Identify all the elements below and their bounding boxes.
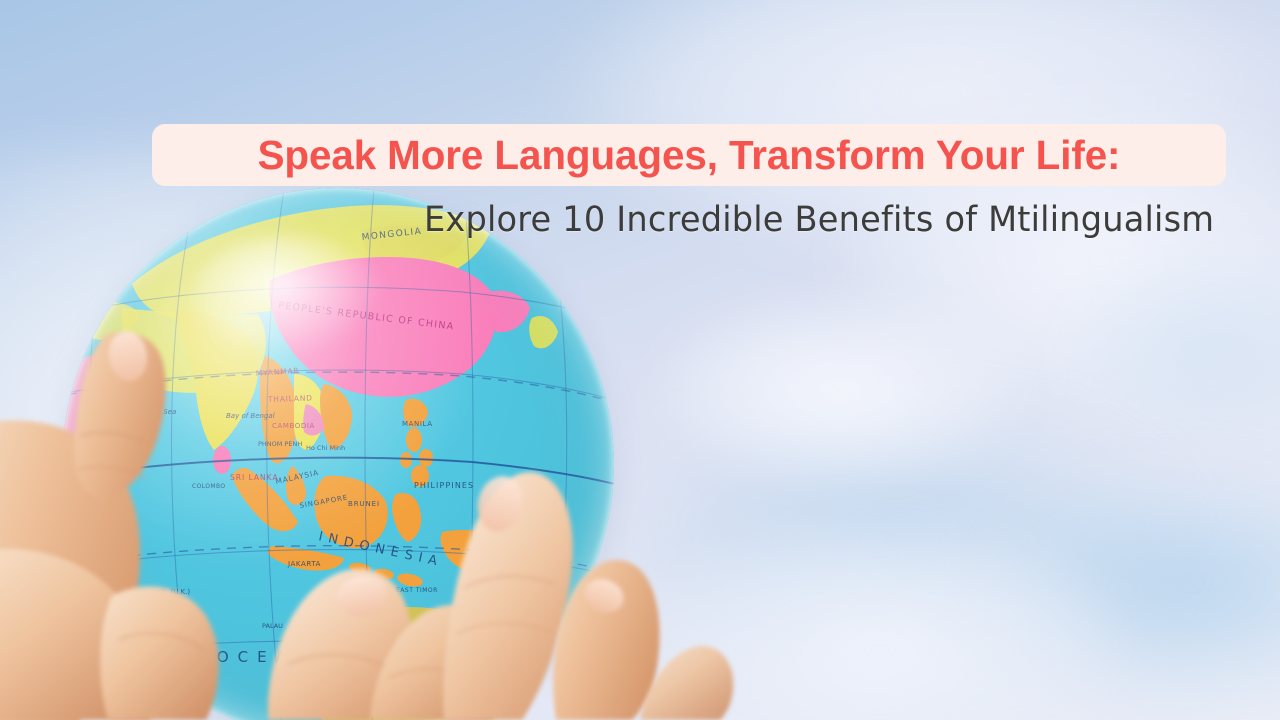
globe-sphere: MONGOLIA PEOPLE'S REPUBLIC OF CHINA MYAN…: [62, 188, 614, 720]
page-subtitle: Explore 10 Incredible Benefits of Mtilin…: [424, 199, 1214, 241]
svg-text:SRI LANKA: SRI LANKA: [230, 473, 279, 482]
svg-text:INDIAN OCEAN: INDIAN OCEAN: [96, 648, 315, 666]
svg-text:Chagos Arch. (U.K.): Chagos Arch. (U.K.): [122, 588, 190, 596]
svg-text:PHILIPPINES: PHILIPPINES: [414, 481, 474, 490]
svg-text:CAMBODIA: CAMBODIA: [272, 422, 315, 430]
svg-text:MANILA: MANILA: [402, 420, 433, 428]
svg-text:THAILAND: THAILAND: [267, 393, 313, 404]
svg-text:COLOMBO: COLOMBO: [192, 483, 225, 490]
svg-text:EAST TIMOR: EAST TIMOR: [396, 587, 438, 594]
svg-text:PAPUA NEW GUINEA: PAPUA NEW GUINEA: [472, 566, 547, 574]
poster-canvas: MONGOLIA PEOPLE'S REPUBLIC OF CHINA MYAN…: [0, 0, 1280, 720]
svg-text:Arabian Sea: Arabian Sea: [133, 408, 176, 416]
globe-map-graphic: MONGOLIA PEOPLE'S REPUBLIC OF CHINA MYAN…: [62, 188, 614, 720]
svg-text:BRUNEI: BRUNEI: [348, 500, 380, 508]
svg-text:PALAU: PALAU: [262, 622, 283, 630]
svg-text:JAKARTA: JAKARTA: [287, 560, 321, 568]
title-banner: Speak More Languages, Transform Your Lif…: [152, 124, 1226, 186]
globe-photo: MONGOLIA PEOPLE'S REPUBLIC OF CHINA MYAN…: [62, 188, 622, 720]
svg-text:PHNOM PENH: PHNOM PENH: [258, 440, 302, 448]
page-title: Speak More Languages, Transform Your Lif…: [258, 135, 1121, 176]
svg-text:Rodrigues (Mau.): Rodrigues (Mau.): [96, 710, 151, 718]
svg-text:Bay of Bengal: Bay of Bengal: [226, 412, 275, 420]
svg-text:Ho Chi Minh: Ho Chi Minh: [306, 444, 345, 452]
